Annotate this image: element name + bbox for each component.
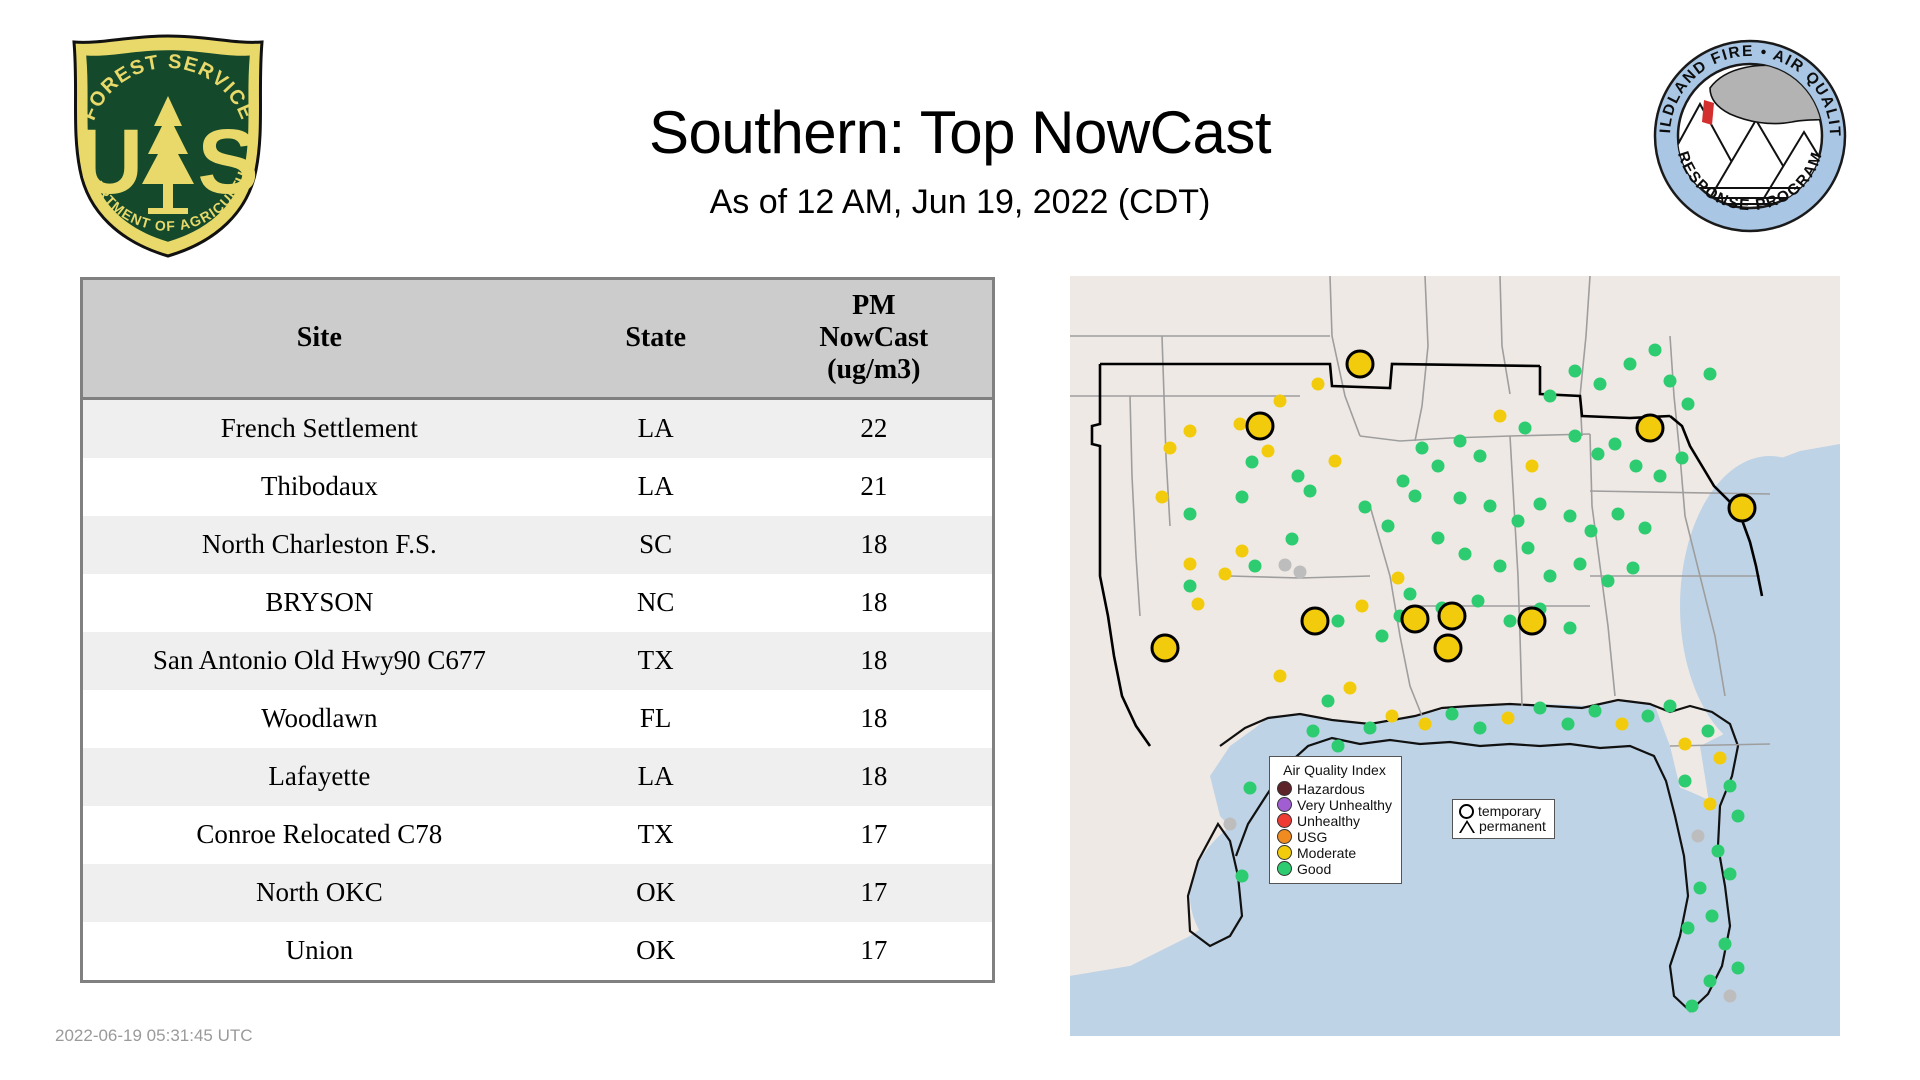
aqi-legend: Air Quality Index Hazardous Very Unhealt… [1269,756,1402,884]
monitor-marker[interactable] [1616,718,1629,731]
monitor-marker[interactable] [1569,365,1582,378]
column-header-pm-line1: PM [760,290,988,322]
monitor-marker[interactable] [1702,725,1715,738]
monitor-marker-highlighted[interactable] [1302,608,1328,634]
aqi-label-moderate: Moderate [1297,846,1356,860]
monitor-marker[interactable] [1156,491,1169,504]
table-row: Union OK 17 [83,922,992,980]
cell-state: NC [556,574,756,632]
column-header-pm-line3: (ug/m3) [760,354,988,386]
aqi-swatch-unhealthy [1277,813,1292,828]
monitor-marker[interactable] [1682,922,1695,935]
type-label-temporary: temporary [1478,804,1541,819]
monitor-marker[interactable] [1184,558,1197,571]
cell-pm: 18 [756,516,992,574]
table-row: San Antonio Old Hwy90 C677 TX 18 [83,632,992,690]
monitor-marker[interactable] [1279,559,1292,572]
monitor-marker[interactable] [1312,378,1325,391]
column-header-pm-nowcast: PM NowCast (ug/m3) [756,280,992,398]
monitor-marker[interactable] [1356,600,1369,613]
monitor-marker[interactable] [1562,718,1575,731]
monitor-marker-highlighted[interactable] [1152,635,1178,661]
monitor-marker[interactable] [1564,510,1577,523]
monitor-marker[interactable] [1244,782,1257,795]
cell-pm: 18 [756,748,992,806]
monitor-marker[interactable] [1307,725,1320,738]
monitor-marker[interactable] [1724,868,1737,881]
monitor-marker[interactable] [1382,520,1395,533]
monitor-marker[interactable] [1609,438,1622,451]
aqi-legend-title: Air Quality Index [1277,762,1392,778]
monitor-marker[interactable] [1472,595,1485,608]
monitor-marker[interactable] [1474,722,1487,735]
monitor-marker[interactable] [1522,542,1535,555]
cell-pm: 17 [756,806,992,864]
monitor-marker[interactable] [1732,810,1745,823]
aqi-swatch-good [1277,861,1292,876]
monitor-marker[interactable] [1332,615,1345,628]
monitor-marker[interactable] [1504,615,1517,628]
monitor-marker[interactable] [1219,568,1232,581]
table-row: Lafayette LA 18 [83,748,992,806]
monitor-marker-highlighted[interactable] [1347,351,1373,377]
monitor-marker-highlighted[interactable] [1402,606,1428,632]
monitor-marker[interactable] [1432,532,1445,545]
monitor-marker[interactable] [1612,508,1625,521]
monitor-marker[interactable] [1274,395,1287,408]
aqi-label-unhealthy: Unhealthy [1297,814,1360,828]
monitor-marker[interactable] [1454,492,1467,505]
type-legend-item-temporary: temporary [1459,804,1546,819]
column-header-pm-line2: NowCast [760,322,988,354]
monitor-marker[interactable] [1624,358,1637,371]
cell-site: North OKC [83,864,556,922]
monitor-marker[interactable] [1519,422,1532,435]
monitor-marker[interactable] [1454,435,1467,448]
cell-site: Lafayette [83,748,556,806]
monitor-marker[interactable] [1392,572,1405,585]
monitor-marker[interactable] [1249,560,1262,573]
monitor-marker[interactable] [1409,490,1422,503]
monitor-marker-highlighted[interactable] [1729,495,1755,521]
monitor-marker[interactable] [1184,580,1197,593]
monitor-marker[interactable] [1719,938,1732,951]
monitor-marker[interactable] [1294,566,1307,579]
monitor-marker[interactable] [1512,515,1525,528]
aqi-label-very-unhealthy: Very Unhealthy [1297,798,1392,812]
monitor-marker[interactable] [1712,845,1725,858]
aqi-swatch-usg [1277,829,1292,844]
monitor-marker-highlighted[interactable] [1637,415,1663,441]
monitor-marker[interactable] [1274,670,1287,683]
table-header: Site State PM NowCast (ug/m3) [83,280,992,398]
air-quality-map[interactable]: Air Quality Index Hazardous Very Unhealt… [1070,276,1840,1036]
monitor-marker[interactable] [1664,375,1677,388]
circle-icon [1459,804,1474,819]
generated-timestamp: 2022-06-19 05:31:45 UTC [55,1026,253,1046]
monitor-marker[interactable] [1692,830,1705,843]
monitor-marker[interactable] [1386,710,1399,723]
monitor-marker[interactable] [1474,450,1487,463]
cell-state: LA [556,748,756,806]
cell-site: BRYSON [83,574,556,632]
aqi-swatch-hazardous [1277,781,1292,796]
monitor-marker[interactable] [1184,508,1197,521]
monitor-marker[interactable] [1704,798,1717,811]
monitor-marker[interactable] [1594,378,1607,391]
monitor-marker[interactable] [1686,1000,1699,1013]
monitor-marker[interactable] [1664,700,1677,713]
monitor-marker[interactable] [1404,588,1417,601]
aqi-legend-item-hazardous: Hazardous [1277,781,1392,796]
monitor-marker[interactable] [1534,498,1547,511]
monitor-marker[interactable] [1574,558,1587,571]
monitor-marker[interactable] [1592,448,1605,461]
monitor-marker[interactable] [1236,870,1249,883]
triangle-icon [1459,820,1475,833]
aqi-label-good: Good [1297,862,1331,876]
aqi-legend-item-moderate: Moderate [1277,845,1392,860]
monitor-marker[interactable] [1286,533,1299,546]
monitor-marker[interactable] [1706,910,1719,923]
aqi-legend-item-good: Good [1277,861,1392,876]
monitor-marker[interactable] [1234,418,1247,431]
table-body: French Settlement LA 22 Thibodaux LA 21 … [83,398,992,980]
monitor-marker[interactable] [1694,882,1707,895]
monitor-marker[interactable] [1192,598,1205,611]
monitor-marker[interactable] [1589,705,1602,718]
cell-site: North Charleston F.S. [83,516,556,574]
monitor-marker[interactable] [1246,456,1259,469]
monitor-marker[interactable] [1322,695,1335,708]
monitor-marker[interactable] [1164,442,1177,455]
monitor-marker[interactable] [1184,425,1197,438]
monitor-marker[interactable] [1564,622,1577,635]
cell-pm: 17 [756,864,992,922]
type-label-permanent: permanent [1479,819,1546,834]
monitor-marker[interactable] [1292,470,1305,483]
cell-state: FL [556,690,756,748]
cell-pm: 18 [756,574,992,632]
monitor-marker-highlighted[interactable] [1439,603,1465,629]
cell-state: LA [556,458,756,516]
monitor-marker[interactable] [1654,470,1667,483]
monitor-marker[interactable] [1544,390,1557,403]
type-legend-item-permanent: permanent [1459,819,1546,834]
aqi-swatch-moderate [1277,845,1292,860]
monitor-marker[interactable] [1332,740,1345,753]
monitor-marker[interactable] [1446,708,1459,721]
cell-state: TX [556,806,756,864]
table-row: French Settlement LA 22 [83,398,992,458]
monitor-marker[interactable] [1639,522,1652,535]
monitor-marker[interactable] [1459,548,1472,561]
monitor-marker[interactable] [1236,491,1249,504]
monitor-marker[interactable] [1569,430,1582,443]
monitor-marker[interactable] [1682,398,1695,411]
monitor-marker[interactable] [1544,570,1557,583]
monitor-marker[interactable] [1679,775,1692,788]
cell-pm: 17 [756,922,992,980]
monitor-marker[interactable] [1502,712,1515,725]
monitor-marker[interactable] [1732,962,1745,975]
cell-site: Union [83,922,556,980]
monitor-marker[interactable] [1585,525,1598,538]
cell-state: SC [556,516,756,574]
table-row: Conroe Relocated C78 TX 17 [83,806,992,864]
cell-site: Thibodaux [83,458,556,516]
monitor-marker-highlighted[interactable] [1519,608,1545,634]
column-header-site: Site [83,280,556,398]
monitor-marker[interactable] [1329,455,1342,468]
monitor-marker[interactable] [1642,710,1655,723]
aqi-swatch-very-unhealthy [1277,797,1292,812]
monitor-marker[interactable] [1397,475,1410,488]
aqi-label-usg: USG [1297,830,1327,844]
aqi-legend-item-usg: USG [1277,829,1392,844]
monitor-marker[interactable] [1432,460,1445,473]
monitor-marker[interactable] [1376,630,1389,643]
monitor-marker[interactable] [1704,975,1717,988]
table-row: Woodlawn FL 18 [83,690,992,748]
table-row: North Charleston F.S. SC 18 [83,516,992,574]
cell-pm: 18 [756,690,992,748]
monitor-markers-layer[interactable] [1070,276,1840,1036]
cell-pm: 18 [756,632,992,690]
column-header-state: State [556,280,756,398]
cell-pm: 22 [756,398,992,458]
monitor-marker[interactable] [1534,702,1547,715]
monitor-marker[interactable] [1236,545,1249,558]
monitor-marker[interactable] [1679,738,1692,751]
monitor-marker[interactable] [1484,500,1497,513]
monitor-marker[interactable] [1344,682,1357,695]
cell-site: French Settlement [83,398,556,458]
monitor-marker[interactable] [1704,368,1717,381]
cell-site: San Antonio Old Hwy90 C677 [83,632,556,690]
cell-site: Conroe Relocated C78 [83,806,556,864]
aqi-label-hazardous: Hazardous [1297,782,1365,796]
monitor-marker[interactable] [1494,560,1507,573]
monitor-marker[interactable] [1419,718,1432,731]
monitor-marker[interactable] [1627,562,1640,575]
table-row: Thibodaux LA 21 [83,458,992,516]
monitor-marker[interactable] [1526,460,1539,473]
monitor-marker[interactable] [1359,501,1372,514]
monitor-marker[interactable] [1676,452,1689,465]
monitor-marker[interactable] [1630,460,1643,473]
monitor-marker[interactable] [1714,752,1727,765]
monitor-marker[interactable] [1649,344,1662,357]
page-subtitle: As of 12 AM, Jun 19, 2022 (CDT) [0,183,1920,222]
table-header-row: Site State PM NowCast (ug/m3) [83,280,992,398]
cell-state: LA [556,398,756,458]
aqi-legend-item-very-unhealthy: Very Unhealthy [1277,797,1392,812]
monitor-marker-highlighted[interactable] [1247,413,1273,439]
monitor-marker[interactable] [1364,722,1377,735]
page-title: Southern: Top NowCast [0,98,1920,167]
monitor-marker[interactable] [1494,410,1507,423]
monitor-marker[interactable] [1304,485,1317,498]
table-row: BRYSON NC 18 [83,574,992,632]
monitor-type-legend: temporary permanent [1452,799,1555,839]
cell-state: OK [556,864,756,922]
cell-pm: 21 [756,458,992,516]
aqi-legend-item-unhealthy: Unhealthy [1277,813,1392,828]
monitor-marker[interactable] [1724,780,1737,793]
monitor-marker[interactable] [1262,445,1275,458]
top-nowcast-table: Site State PM NowCast (ug/m3) French Set… [80,277,995,983]
monitor-marker-highlighted[interactable] [1435,635,1461,661]
monitor-marker[interactable] [1224,818,1237,831]
cell-state: TX [556,632,756,690]
monitor-marker[interactable] [1602,575,1615,588]
cell-state: OK [556,922,756,980]
monitor-marker[interactable] [1724,990,1737,1003]
cell-site: Woodlawn [83,690,556,748]
table-row: North OKC OK 17 [83,864,992,922]
monitor-marker[interactable] [1416,442,1429,455]
